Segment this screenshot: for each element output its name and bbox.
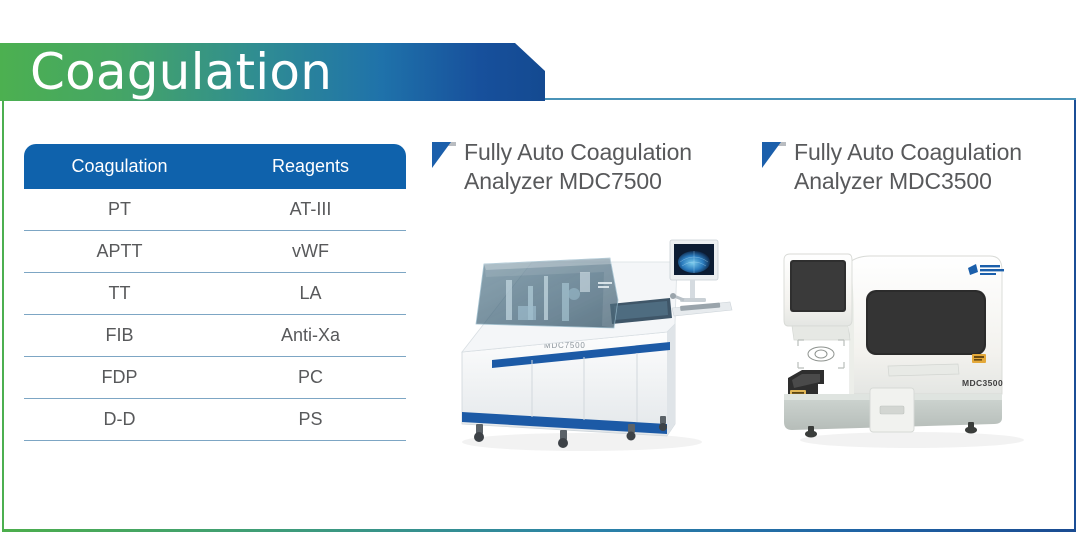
product-title-line1: Fully Auto Coagulation xyxy=(794,138,1022,167)
product-title-mdc3500: Fully Auto Coagulation Analyzer MDC3500 xyxy=(794,138,1022,197)
coagulation-slide: Coagulation Coagulation Reagents PT AT-I… xyxy=(0,0,1080,537)
table-row: APTT vWF xyxy=(24,231,406,273)
product-title-mdc7500: Fully Auto Coagulation Analyzer MDC7500 xyxy=(464,138,692,197)
product-title-line1: Fully Auto Coagulation xyxy=(464,138,692,167)
table-row: PT AT-III xyxy=(24,189,406,231)
cell-test: PT xyxy=(24,189,215,231)
cell-test: TT xyxy=(24,273,215,315)
product-mdc3500: Fully Auto Coagulation Analyzer MDC3500 xyxy=(762,138,1078,197)
product-image-mdc3500: MDC3500 xyxy=(762,228,1078,460)
svg-text:MDC3500: MDC3500 xyxy=(962,378,1003,388)
product-title-line2: Analyzer MDC7500 xyxy=(464,167,692,196)
product-title-line2: Analyzer MDC3500 xyxy=(794,167,1022,196)
table-header-row: Coagulation Reagents xyxy=(24,144,406,189)
table-row: D-D PS xyxy=(24,399,406,441)
flag-bullet-icon xyxy=(432,142,456,168)
table-row: FDP PC xyxy=(24,357,406,399)
table-row: FIB Anti-Xa xyxy=(24,315,406,357)
cell-reagent: LA xyxy=(215,273,406,315)
cell-reagent: PC xyxy=(215,357,406,399)
page-title: Coagulation xyxy=(30,42,530,102)
cell-test: FDP xyxy=(24,357,215,399)
frame-top-divider xyxy=(540,98,1076,100)
product-image-mdc7500: MDC7500 xyxy=(432,228,752,460)
cell-reagent: AT-III xyxy=(215,189,406,231)
table-row: TT LA xyxy=(24,273,406,315)
column-header-reagents: Reagents xyxy=(215,144,406,189)
cell-reagent: PS xyxy=(215,399,406,441)
cell-test: FIB xyxy=(24,315,215,357)
product-mdc7500: Fully Auto Coagulation Analyzer MDC7500 xyxy=(432,138,750,197)
cell-test: D-D xyxy=(24,399,215,441)
cell-test: APTT xyxy=(24,231,215,273)
flag-bullet-icon xyxy=(762,142,786,168)
column-header-coagulation: Coagulation xyxy=(24,144,215,189)
cell-reagent: vWF xyxy=(215,231,406,273)
cell-reagent: Anti-Xa xyxy=(215,315,406,357)
frame-bottom-gradient xyxy=(2,529,1076,532)
coagulation-table: Coagulation Reagents PT AT-III APTT vWF … xyxy=(24,144,406,441)
